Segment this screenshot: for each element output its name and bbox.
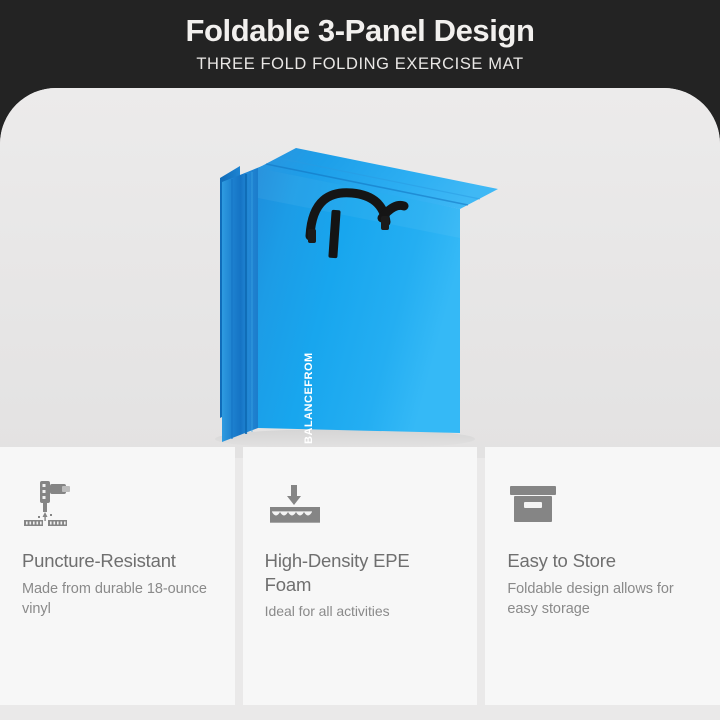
foam-density-arrow-icon-svg bbox=[265, 479, 327, 529]
feature-title: Puncture-Resistant bbox=[22, 549, 213, 573]
feature-card-puncture-resistant[interactable]: Puncture-Resistant Made from durable 18-… bbox=[0, 447, 235, 705]
storage-box-icon-svg bbox=[507, 479, 569, 529]
drill-puncture-icon-svg bbox=[22, 479, 84, 529]
foam-density-arrow-icon bbox=[265, 477, 456, 529]
feature-title: High-Density EPE Foam bbox=[265, 549, 456, 596]
feature-card-easy-to-store[interactable]: Easy to Store Foldable design allows for… bbox=[485, 447, 720, 705]
feature-desc: Ideal for all activities bbox=[265, 602, 456, 622]
header-banner: Foldable 3-Panel Design THREE FOLD FOLDI… bbox=[0, 0, 720, 100]
feature-title: Easy to Store bbox=[507, 549, 698, 573]
storage-box-icon bbox=[507, 477, 698, 529]
feature-card-list: Puncture-Resistant Made from durable 18-… bbox=[0, 447, 720, 705]
drill-puncture-icon bbox=[22, 477, 213, 529]
feature-card-high-density-epe-foam[interactable]: High-Density EPE Foam Ideal for all acti… bbox=[243, 447, 478, 705]
page-subtitle: THREE FOLD FOLDING EXERCISE MAT bbox=[196, 55, 523, 74]
feature-desc: Foldable design allows for easy storage bbox=[507, 579, 698, 620]
infographic-page: Foldable 3-Panel Design THREE FOLD FOLDI… bbox=[0, 0, 720, 720]
page-title: Foldable 3-Panel Design bbox=[185, 14, 534, 48]
feature-desc: Made from durable 18-ounce vinyl bbox=[22, 579, 213, 620]
hero-background bbox=[0, 88, 720, 458]
